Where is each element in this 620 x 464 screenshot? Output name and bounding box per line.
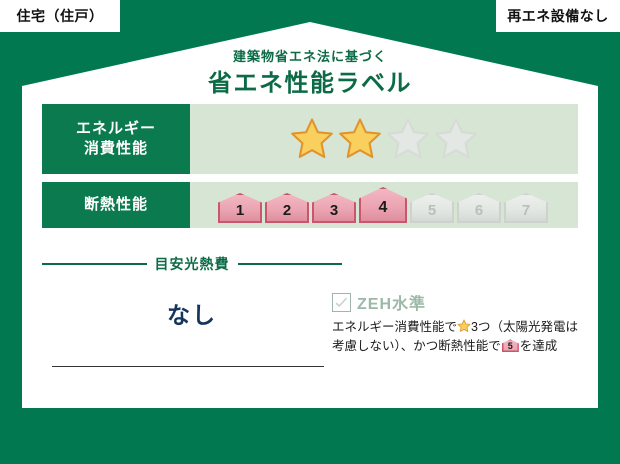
- utility-cost-underline: [52, 366, 324, 367]
- renewable-equipment-tag-label: 再エネ設備なし: [507, 6, 609, 26]
- zeh-checkbox-icon: [332, 293, 351, 312]
- zeh-block: ZEH水準 エネルギー消費性能で 3つ（太陽光発電は考慮しない）、かつ断熱性能で…: [332, 290, 582, 357]
- insulation-performance-label-text: 断熱性能: [84, 195, 148, 215]
- utility-cost-block: 目安光熱費 なし: [42, 254, 342, 330]
- insulation-level-7: 7: [504, 193, 548, 223]
- zeh-heading: ZEH水準: [332, 290, 582, 314]
- star-empty-icon: [434, 117, 478, 161]
- energy-performance-stars: [190, 104, 578, 174]
- energy-performance-label-line2: 消費性能: [84, 139, 148, 159]
- insulation-level-number: 1: [236, 203, 244, 223]
- bottom-section: 目安光熱費 なし ZEH水準: [22, 254, 598, 408]
- label-card: 建築物省エネ法に基づく 省エネ性能ラベル エネルギー 消費性能 断熱性能: [22, 22, 598, 408]
- star-filled-icon: [338, 117, 382, 161]
- heading-rule-left: [42, 263, 147, 265]
- insulation-performance-label: 断熱性能: [42, 182, 190, 228]
- insulation-level-1: 1: [218, 193, 262, 223]
- star-empty-icon: [386, 117, 430, 161]
- label-card-inner: 建築物省エネ法に基づく 省エネ性能ラベル エネルギー 消費性能 断熱性能: [22, 22, 598, 408]
- renewable-equipment-tag: 再エネ設備なし: [496, 0, 620, 32]
- insulation-level-5: 5: [410, 193, 454, 223]
- zeh-text-part3: を達成: [520, 339, 558, 353]
- utility-cost-heading: 目安光熱費: [42, 254, 342, 274]
- zeh-text-part1: エネルギー消費性能で: [332, 320, 457, 334]
- insulation-performance-row: 断熱性能 1234567: [42, 182, 578, 228]
- inline-house-icon: 5: [502, 339, 519, 352]
- star-filled-icon: [290, 117, 334, 161]
- energy-performance-label: エネルギー 消費性能: [42, 104, 190, 174]
- rating-rows: エネルギー 消費性能 断熱性能 1234567: [42, 104, 578, 236]
- insulation-level-4: 4: [359, 187, 407, 223]
- insulation-level-number: 5: [428, 203, 436, 223]
- zeh-title: ZEH水準: [357, 290, 426, 314]
- inline-star-icon: [457, 319, 471, 333]
- heading-rule-right: [238, 263, 343, 265]
- insulation-level-2: 2: [265, 193, 309, 223]
- zeh-description: エネルギー消費性能で 3つ（太陽光発電は考慮しない）、かつ断熱性能で 5 を達成: [332, 318, 582, 357]
- energy-label-root: 住宅（住戸） 再エネ設備なし 建築物省エネ法に基づく 省エネ性能ラベル エネルギ…: [0, 0, 620, 464]
- building-type-tag-label: 住宅（住戸）: [17, 6, 104, 26]
- energy-performance-label-line1: エネルギー: [76, 119, 156, 139]
- insulation-level-number: 4: [379, 200, 388, 223]
- insulation-level-number: 7: [522, 203, 530, 223]
- insulation-level-3: 3: [312, 193, 356, 223]
- insulation-performance-scale: 1234567: [190, 182, 578, 228]
- utility-cost-value: なし: [42, 296, 342, 330]
- insulation-level-number: 3: [330, 203, 338, 223]
- zeh-star-count-text: 3つ（太陽光発電: [471, 320, 565, 334]
- building-type-tag: 住宅（住戸）: [0, 0, 120, 32]
- energy-performance-row: エネルギー 消費性能: [42, 104, 578, 174]
- insulation-level-number: 6: [475, 203, 483, 223]
- inline-house-level: 5: [502, 339, 519, 352]
- insulation-level-number: 2: [283, 203, 291, 223]
- page-title: 省エネ性能ラベル: [22, 63, 598, 98]
- utility-cost-heading-text: 目安光熱費: [147, 254, 238, 274]
- insulation-house-row: 1234567: [218, 187, 551, 223]
- insulation-level-6: 6: [457, 193, 501, 223]
